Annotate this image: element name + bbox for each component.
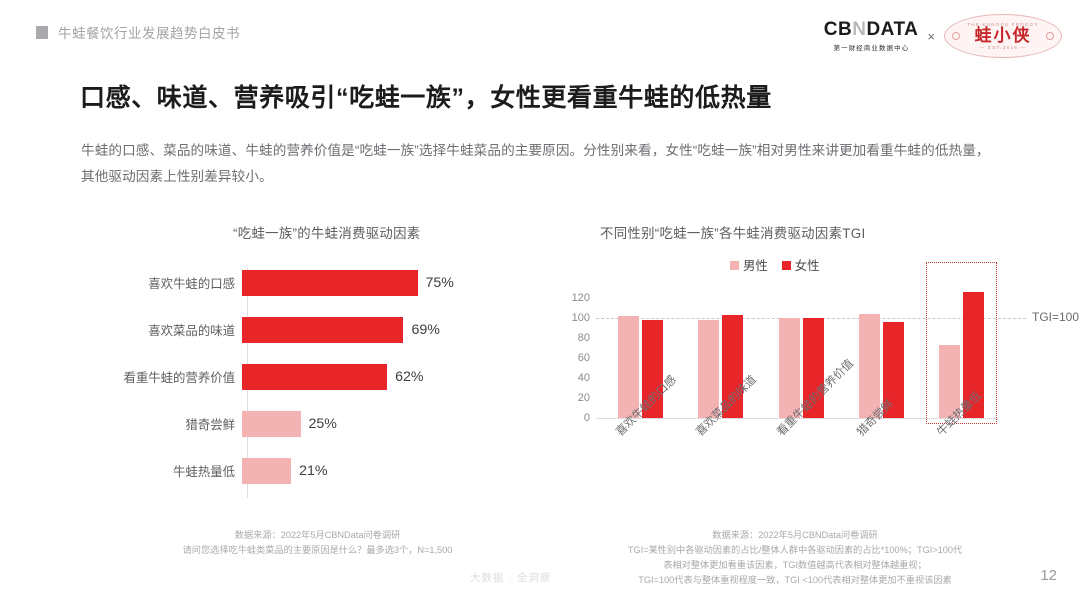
right-grouped-bar-chart: 男性女性 120100806040200 TGI=100 喜欢牛蛙的口感喜欢菜品…	[548, 256, 1068, 516]
cbndata-subtitle: 第一财经商业数据中心	[833, 42, 909, 52]
left-chart-bar-row: 75%	[242, 270, 504, 296]
header-square-icon	[36, 26, 48, 39]
cbndata-wordmark: CBNDATA	[824, 20, 919, 39]
page-header: 牛蛙餐饮行业发展趋势白皮书 CBNDATA 第一财经商业数据中心 × THE K…	[0, 0, 1080, 62]
legend-swatch-icon	[730, 261, 739, 270]
y-axis-tick-label: 120	[572, 292, 590, 304]
brand-separator-icon: ×	[927, 29, 935, 44]
left-chart-bar-row: 62%	[242, 364, 504, 390]
y-axis-tick-label: 40	[578, 372, 590, 384]
left-chart-value-label: 62%	[395, 369, 423, 385]
left-chart-bar	[242, 317, 403, 343]
left-chart-value-label: 75%	[426, 275, 454, 291]
y-axis-tick-label: 60	[578, 352, 590, 364]
legend-label: 女性	[795, 256, 820, 274]
legend-item-male[interactable]: 男性	[730, 256, 768, 274]
left-chart-category-label: 猎奇尝鲜	[104, 415, 242, 433]
y-axis-labels: 120100806040200	[548, 288, 594, 418]
left-chart-category-label: 牛蛙热量低	[104, 462, 242, 480]
legend-swatch-icon	[782, 261, 791, 270]
right-footnote-line-3: 表相对整体更加看重该因素，TGI数值越高代表相对整体越重视；	[560, 558, 1030, 573]
left-footnote-line-1: 数据来源：2022年5月CBNData问卷调研	[110, 528, 525, 543]
left-chart-value-label: 21%	[299, 463, 327, 479]
left-chart-bar	[242, 458, 291, 484]
table-row: 牛蛙热量低21%	[104, 458, 504, 484]
left-chart-category-label: 看重牛蛙的营养价值	[104, 368, 242, 386]
slide-page: 牛蛙餐饮行业发展趋势白皮书 CBNDATA 第一财经商业数据中心 × THE K…	[0, 0, 1080, 608]
left-chart-bar-row: 25%	[242, 411, 504, 437]
frog-logo-main-text: 蛙小侠	[975, 27, 1032, 45]
right-footnote-line-4: TGI=100代表与整体重视程度一致，TGI <100代表相对整体更加不重视该因…	[560, 573, 1030, 588]
left-footnote-line-2: 请问您选择吃牛蛙类菜品的主要原因是什么？最多选3个，N=1,500	[110, 543, 525, 558]
y-axis-tick-label: 80	[578, 332, 590, 344]
watermark-text: 大数据 · 全洞察	[470, 570, 551, 585]
legend-item-female[interactable]: 女性	[782, 256, 820, 274]
frog-logo-top-text: THE KUNGFU FROGGY	[967, 22, 1038, 27]
cbndata-logo: CBNDATA 第一财经商业数据中心	[824, 20, 919, 52]
y-axis-tick-label: 0	[584, 412, 590, 424]
page-title: 口感、味道、营养吸引“吃蛙一族”，女性更看重牛蛙的低热量	[80, 78, 1000, 114]
left-chart-value-label: 69%	[411, 322, 439, 338]
chart-legend: 男性女性	[730, 256, 820, 274]
left-chart-bar-row: 21%	[242, 458, 504, 484]
left-chart-value-label: 25%	[309, 416, 337, 432]
left-chart-footnote: 数据来源：2022年5月CBNData问卷调研 请问您选择吃牛蛙类菜品的主要原因…	[110, 528, 525, 558]
brand-lockup: CBNDATA 第一财经商业数据中心 × THE KUNGFU FROGGY 蛙…	[824, 14, 1062, 58]
frog-right-dot-icon	[1046, 32, 1054, 40]
right-footnote-line-2: TGI=某性别中各驱动因素的占比/整体人群中各驱动因素的占比*100%；TGI>…	[560, 543, 1030, 558]
left-chart-category-label: 喜欢牛蛙的口感	[104, 274, 242, 292]
left-chart-bar	[242, 364, 387, 390]
page-summary-text: 牛蛙的口感、菜品的味道、牛蛙的营养价值是“吃蛙一族”选择牛蛙菜品的主要原因。分性…	[81, 138, 1003, 190]
left-chart-category-label: 喜欢菜品的味道	[104, 321, 242, 339]
left-chart-bar	[242, 411, 301, 437]
table-row: 喜欢菜品的味道69%	[104, 317, 504, 343]
y-axis-tick-label: 20	[578, 392, 590, 404]
frog-logo-bottom-text: — EST.2015 —	[979, 45, 1026, 50]
table-row: 猎奇尝鲜25%	[104, 411, 504, 437]
left-chart-bar-row: 69%	[242, 317, 504, 343]
document-title: 牛蛙餐饮行业发展趋势白皮书	[58, 22, 240, 42]
table-row: 看重牛蛙的营养价值62%	[104, 364, 504, 390]
x-axis-labels: 喜欢牛蛙的口感喜欢菜品的味道看重牛蛙的营养价值猎奇尝鲜牛蛙热量低	[596, 426, 1016, 516]
right-footnote-line-1: 数据来源：2022年5月CBNData问卷调研	[560, 528, 1030, 543]
left-chart-bar	[242, 270, 418, 296]
page-number: 12	[1040, 567, 1057, 584]
right-chart-title: 不同性别“吃蛙一族”各牛蛙消费驱动因素TGI	[600, 222, 865, 242]
left-chart-title: “吃蛙一族”的牛蛙消费驱动因素	[233, 222, 421, 242]
left-bar-chart: 喜欢牛蛙的口感75%喜欢菜品的味道69%看重牛蛙的营养价值62%猎奇尝鲜25%牛…	[104, 262, 504, 502]
table-row: 喜欢牛蛙的口感75%	[104, 270, 504, 296]
tgi-reference-label: TGI=100	[1032, 310, 1079, 324]
y-axis-tick-label: 100	[572, 312, 590, 324]
frog-left-dot-icon	[952, 32, 960, 40]
legend-label: 男性	[743, 256, 768, 274]
right-chart-footnote: 数据来源：2022年5月CBNData问卷调研 TGI=某性别中各驱动因素的占比…	[560, 528, 1030, 588]
wuxiaoxia-logo: THE KUNGFU FROGGY 蛙小侠 — EST.2015 —	[944, 14, 1062, 58]
